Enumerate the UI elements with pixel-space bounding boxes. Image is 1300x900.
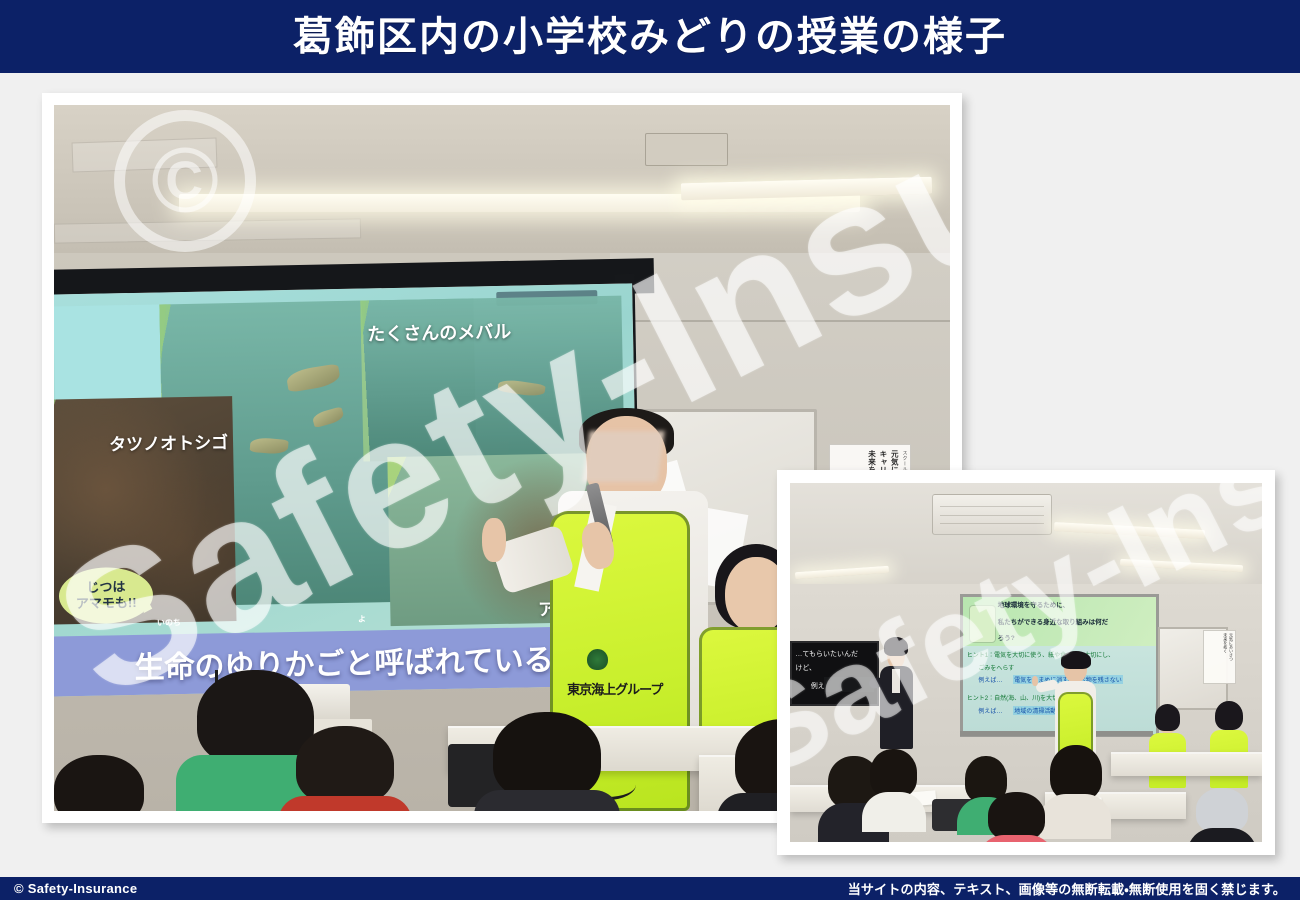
- slide-label-tatsunootoshigo: タツノオトシゴ: [109, 428, 228, 455]
- inset-photo-frame[interactable]: 地球環境を守るために、 私たちができる身近な取り組みは何だ ろう? ヒント1：電…: [777, 470, 1275, 855]
- monitor-line-1: …てもらいたいんだ: [795, 649, 858, 659]
- redaction-block: [824, 677, 873, 693]
- inset-poster-line-1: 元気にあいさつ: [1228, 633, 1233, 681]
- fish-shape: [311, 406, 345, 427]
- inset-wall-poster: 元気にあいさつ 未来を拓く: [1203, 630, 1236, 684]
- ac-louver: [940, 506, 1044, 507]
- inset-slide-question-3: ろう?: [998, 634, 1153, 644]
- student-seated: [988, 792, 1045, 842]
- inset-slide-question-1: 地球環境を守るために、: [998, 601, 1153, 611]
- student-head: [54, 755, 144, 811]
- student-foreground: [493, 712, 601, 811]
- fish-shape: [497, 377, 545, 397]
- student-seated: [1196, 788, 1248, 842]
- wall-seam: [610, 320, 950, 322]
- ac-louver: [940, 523, 1044, 524]
- page-root: 葛飾区内の小学校みどりの授業の様子: [0, 0, 1300, 900]
- student-foreground: [54, 755, 144, 811]
- bubble-line-1: じつは: [86, 578, 125, 595]
- staff-hair: [1215, 701, 1242, 731]
- ac-louver: [940, 515, 1044, 516]
- footer-copyright: © Safety-Insurance: [14, 881, 137, 896]
- student-foreground: [296, 726, 395, 811]
- content-stage: スクールキャッチフレーズ 元気にあいさつ キャリアと心をみがき、 未来を拓く 葛…: [0, 73, 1300, 877]
- student-head-cap: [1196, 788, 1248, 833]
- inset-slide-question-2: 私たちができる身近な取り組みは何だ: [998, 618, 1153, 628]
- student-body: [278, 796, 412, 811]
- monitor-line-2: けど、: [795, 663, 816, 673]
- student-body: [1187, 828, 1258, 842]
- staff-hair: [1155, 704, 1181, 731]
- inset-slide-example-1-prefix: 例えば…: [978, 675, 1002, 684]
- teacher-shirt: [892, 669, 901, 693]
- teacher-hair: [884, 637, 908, 656]
- footer-notice: 当サイトの内容、テキスト、画像等の無断転載・無断使用を固く禁じます。: [848, 879, 1286, 898]
- teacher-figure: [880, 641, 913, 749]
- page-footer: © Safety-Insurance 当サイトの内容、テキスト、画像等の無断転載…: [0, 877, 1300, 900]
- slide-ruby-inochi: いのち: [157, 617, 181, 628]
- student-head: [870, 749, 917, 798]
- student-seated: [1050, 745, 1102, 835]
- fish-shape: [285, 363, 341, 392]
- watermark-copyright-icon: ©: [114, 110, 256, 252]
- page-header: 葛飾区内の小学校みどりの授業の様子: [0, 0, 1300, 73]
- presenter-pointing-hand: [482, 518, 505, 561]
- vest-company-name: 東京海上グループ: [567, 679, 659, 698]
- student-body: [474, 790, 620, 811]
- wall-monitor: …てもらいたいんだ けど、 例えば: [790, 641, 879, 706]
- company-logo-icon: [587, 649, 608, 670]
- ceiling-vent-icon: [645, 133, 728, 166]
- bubble-line-2: アマモも!!: [76, 594, 137, 611]
- student-body: [978, 835, 1055, 842]
- student-head: [296, 726, 395, 805]
- slide-ruby-yo: よ: [358, 613, 366, 624]
- student-head: [493, 712, 601, 800]
- page-title: 葛飾区内の小学校みどりの授業の様子: [293, 17, 1007, 57]
- slide-label-mebaru: たくさんのメバル: [367, 317, 511, 346]
- inset-slide-hint-1-cont: ごみをへらす: [978, 663, 1014, 672]
- air-conditioner-icon: [932, 494, 1052, 535]
- student-seated: [870, 749, 917, 828]
- presenter-hair: [1061, 651, 1091, 669]
- slide-work-badge: [969, 605, 996, 642]
- student-body: [862, 792, 926, 831]
- student-body: [1040, 794, 1111, 839]
- inset-poster-line-2: 未来を拓く: [1222, 633, 1227, 681]
- inset-photo-image: 地球環境を守るために、 私たちができる身近な取り組みは何だ ろう? ヒント1：電…: [790, 483, 1262, 842]
- inset-slide-example-2-prefix: 例えば…: [978, 706, 1002, 715]
- fish-shape: [250, 436, 289, 454]
- classroom-desk: [1111, 752, 1262, 776]
- face-blur-overlay: [583, 431, 665, 482]
- student-head: [988, 792, 1045, 841]
- student-head: [1050, 745, 1102, 801]
- seated-staff-1: [1149, 709, 1187, 788]
